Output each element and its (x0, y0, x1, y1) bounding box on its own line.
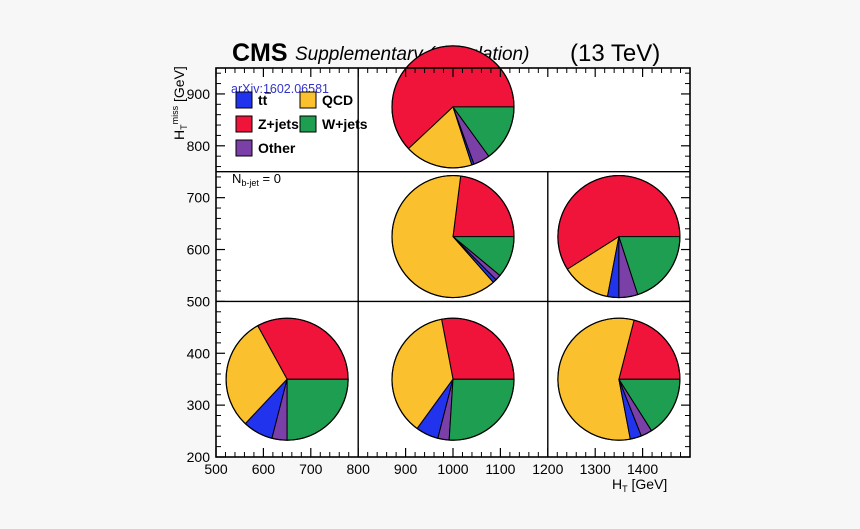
legend-swatch-w-jets (300, 116, 316, 132)
pie-chart (558, 176, 680, 298)
y-axis-title-unit: [GeV] (171, 66, 187, 106)
pie-chart (392, 318, 514, 440)
x-tick-label: 1000 (437, 461, 468, 477)
y-tick-label: 300 (187, 397, 211, 413)
y-axis-title-sub: T (179, 124, 189, 130)
legend-swatch-other (236, 140, 252, 156)
nbjet-prefix: N (232, 171, 241, 186)
x-tick-label: 1200 (532, 461, 563, 477)
x-axis-title-main: H (612, 476, 622, 492)
legend-label-tt: tt (258, 92, 268, 108)
legend-swatch-z-jets (236, 116, 252, 132)
legend-swatch-tt (236, 92, 252, 108)
figure-root: CMS Supplementary (Simulation) (13 TeV) … (0, 0, 860, 529)
nbjet-value: = 0 (259, 171, 281, 186)
x-tick-label: 900 (394, 461, 418, 477)
pie-chart (558, 318, 680, 440)
x-tick-label: 800 (347, 461, 371, 477)
legend-label-qcd: QCD (322, 92, 353, 108)
x-tick-label: 1100 (485, 461, 515, 477)
y-tick-label: 500 (187, 293, 211, 309)
x-tick-label: 700 (299, 461, 323, 477)
x-tick-label: 600 (252, 461, 276, 477)
legend-label-z-jets: Z+jets (258, 116, 299, 132)
y-tick-label: 400 (187, 345, 211, 361)
y-tick-label: 200 (187, 449, 211, 465)
y-tick-label: 700 (187, 190, 211, 206)
cms-label: CMS (232, 39, 288, 67)
x-axis-title-unit: [GeV] (628, 476, 668, 492)
pie-chart (392, 176, 514, 298)
plot-area: 5006007008009001000110012001300140020030… (187, 46, 690, 477)
legend-label-other: Other (258, 140, 296, 156)
y-axis-title-sup: miss (170, 105, 180, 124)
x-tick-label: 1400 (627, 461, 658, 477)
x-axis-title: HT [GeV] (612, 476, 667, 494)
x-tick-label: 1300 (580, 461, 611, 477)
legend-label-w-jets: W+jets (322, 116, 368, 132)
y-axis-title-main: H (171, 130, 187, 140)
y-tick-label: 600 (187, 242, 211, 258)
y-tick-label: 900 (187, 86, 211, 102)
y-tick-label: 800 (187, 138, 211, 154)
energy-label: (13 TeV) (570, 40, 660, 67)
pie-chart (392, 46, 514, 168)
pie-chart (226, 318, 348, 440)
nbjet-sub: b-jet (241, 178, 259, 188)
cms-pie-figure: CMS Supplementary (Simulation) (13 TeV) … (0, 0, 860, 529)
legend-swatch-qcd (300, 92, 316, 108)
